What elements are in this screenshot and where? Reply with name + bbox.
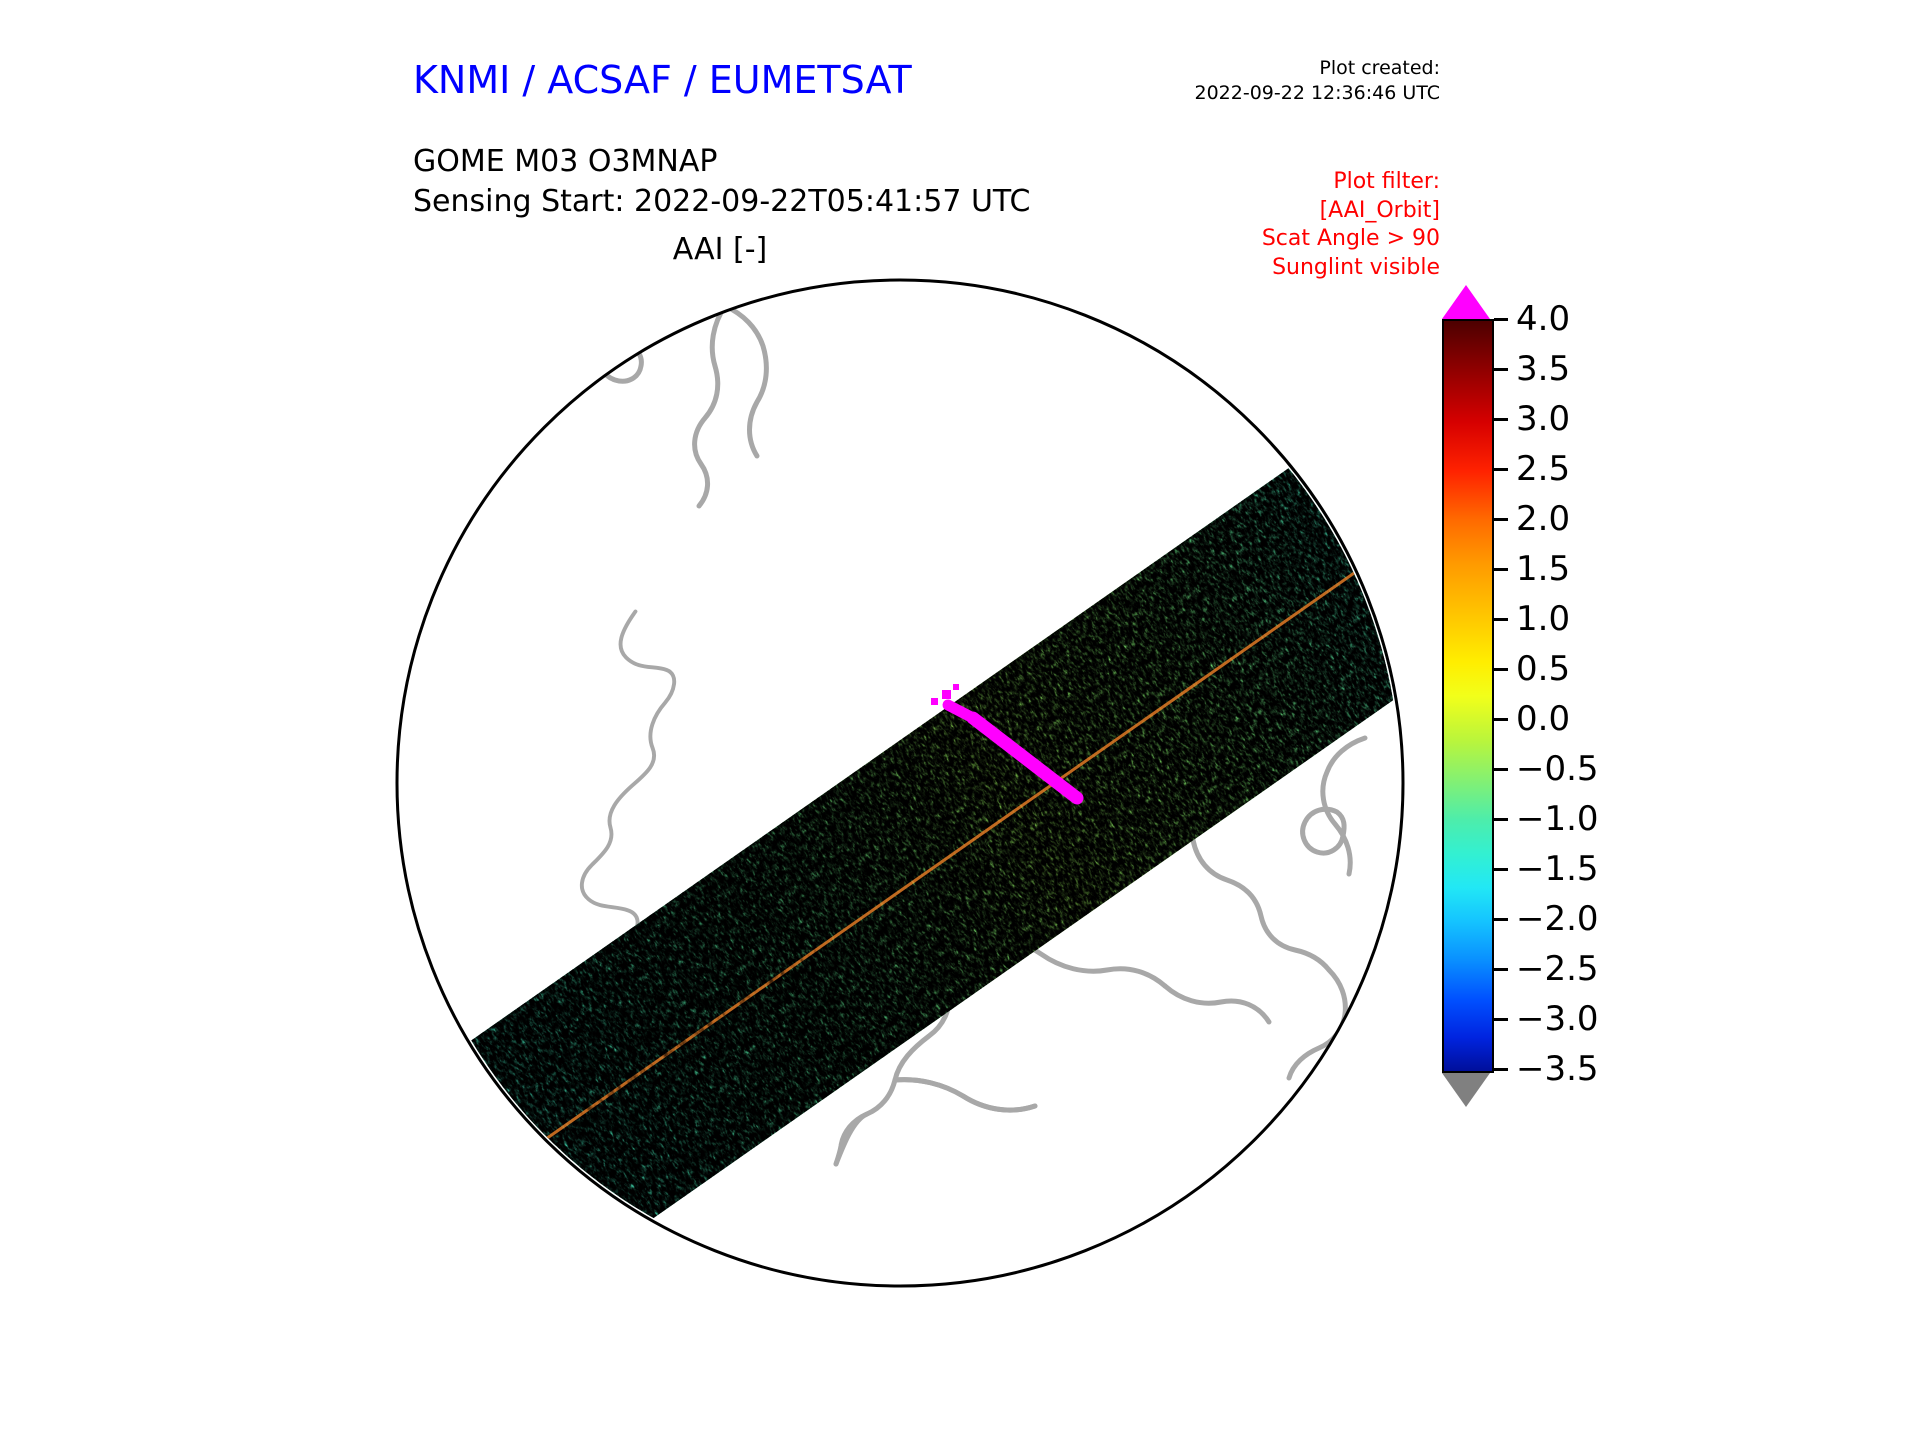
colorbar-tick-label: −3.5 bbox=[1516, 1049, 1599, 1089]
colorbar-tick-mark bbox=[1494, 1068, 1508, 1071]
colorbar-tick-label: −2.5 bbox=[1516, 949, 1599, 989]
plot-created-label: Plot created: bbox=[1160, 56, 1440, 81]
colorbar-tick-label: 4.0 bbox=[1516, 299, 1570, 339]
colorbar-tick-label: 3.0 bbox=[1516, 399, 1570, 439]
colorbar-tick-mark bbox=[1494, 918, 1508, 921]
colorbar-tick-label: −2.0 bbox=[1516, 899, 1599, 939]
colorbar-tick-label: −1.0 bbox=[1516, 799, 1599, 839]
colorbar-tick-mark bbox=[1494, 518, 1508, 521]
colorbar-tick-mark bbox=[1494, 318, 1508, 321]
colorbar-gradient bbox=[1444, 321, 1492, 1071]
colorbar-tick-label: 1.5 bbox=[1516, 549, 1570, 589]
colorbar-tick-label: −0.5 bbox=[1516, 749, 1599, 789]
colorbar-tick-mark bbox=[1494, 968, 1508, 971]
product-info-block: GOME M03 O3MNAP Sensing Start: 2022-09-2… bbox=[413, 142, 1030, 222]
product-name: GOME M03 O3MNAP bbox=[413, 142, 1030, 182]
organization-title: KNMI / ACSAF / EUMETSAT bbox=[413, 58, 912, 102]
colorbar-tick-mark bbox=[1494, 668, 1508, 671]
filter-line-1: Plot filter: bbox=[1160, 168, 1440, 197]
plot-created-block: Plot created: 2022-09-22 12:36:46 UTC bbox=[1160, 56, 1440, 106]
filter-line-3: Scat Angle > 90 bbox=[1160, 225, 1440, 254]
colorbar-tick-label: 2.5 bbox=[1516, 449, 1570, 489]
colorbar-tick-label: −1.5 bbox=[1516, 849, 1599, 889]
colorbar-tick-mark bbox=[1494, 368, 1508, 371]
colorbar-tick-mark bbox=[1494, 418, 1508, 421]
colorbar-tick-mark bbox=[1494, 468, 1508, 471]
colorbar-tick-label: 1.0 bbox=[1516, 599, 1570, 639]
colorbar-tick-mark bbox=[1494, 718, 1508, 721]
colorbar-tick-label: 0.5 bbox=[1516, 649, 1570, 689]
colorbar-under-arrow bbox=[1442, 1073, 1490, 1107]
colorbar-tick-label: 2.0 bbox=[1516, 499, 1570, 539]
colorbar-tick-mark bbox=[1494, 568, 1508, 571]
colorbar-over-arrow bbox=[1442, 285, 1490, 319]
plot-filter-block: Plot filter: [AAI_Orbit] Scat Angle > 90… bbox=[1160, 168, 1440, 282]
colorbar-tick-mark bbox=[1494, 818, 1508, 821]
colorbar-tick-label: −3.0 bbox=[1516, 999, 1599, 1039]
colorbar-tick-mark bbox=[1494, 1018, 1508, 1021]
map-plot-area bbox=[395, 278, 1405, 1288]
colorbar-tick-mark bbox=[1494, 868, 1508, 871]
colorbar-tick-label: 0.0 bbox=[1516, 699, 1570, 739]
colorbar-tick-mark bbox=[1494, 768, 1508, 771]
colorbar-tick-mark bbox=[1494, 618, 1508, 621]
colorbar-tick-label: 3.5 bbox=[1516, 349, 1570, 389]
filter-line-2: [AAI_Orbit] bbox=[1160, 197, 1440, 226]
globe-disc bbox=[395, 278, 1405, 1288]
colorbar-bar bbox=[1442, 319, 1494, 1073]
plot-created-timestamp: 2022-09-22 12:36:46 UTC bbox=[1160, 81, 1440, 106]
sensing-start: Sensing Start: 2022-09-22T05:41:57 UTC bbox=[413, 182, 1030, 222]
